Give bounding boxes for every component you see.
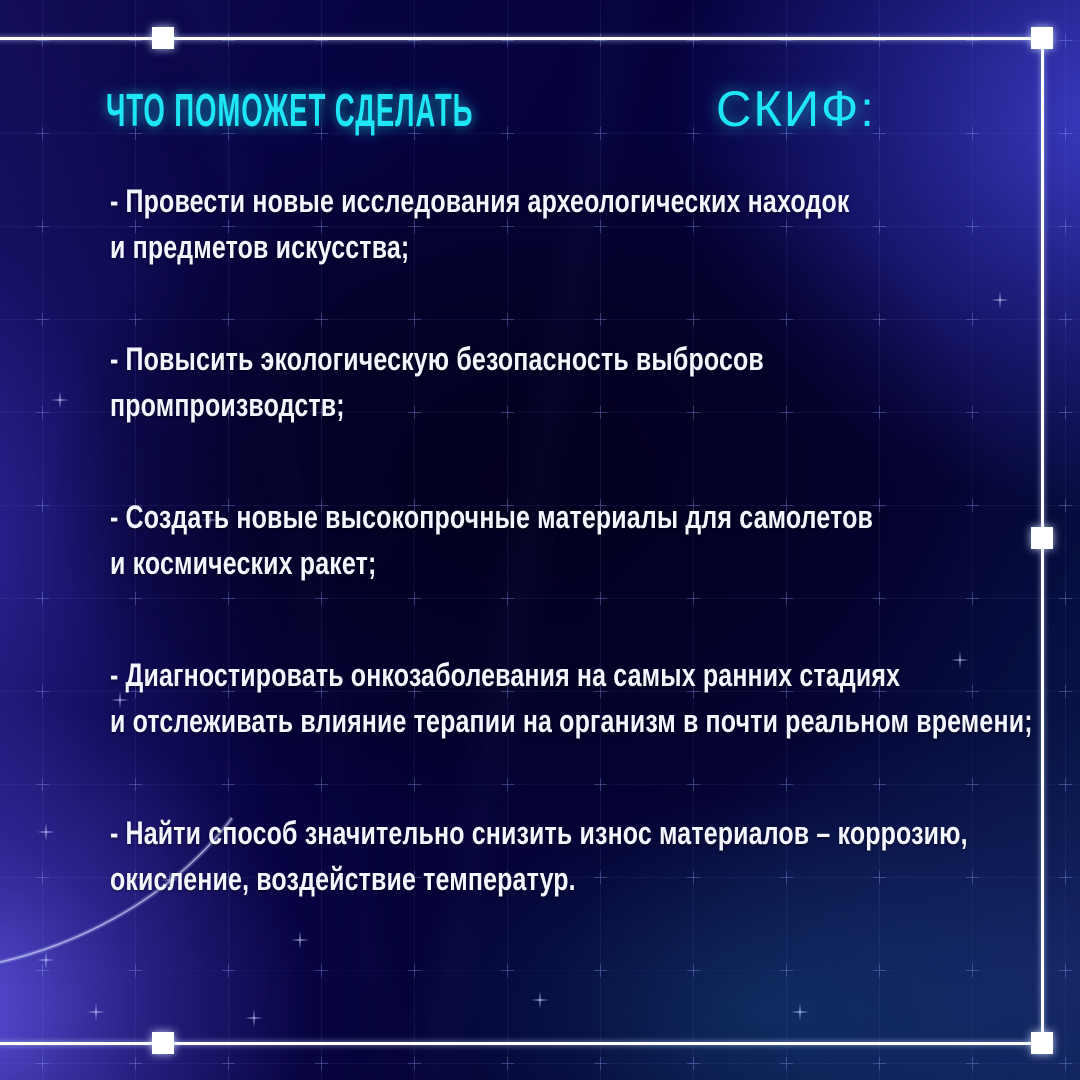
slide-canvas: ЧТО ПОМОЖЕТ СДЕЛАТЬ СКИФ: - Провести нов…	[0, 0, 1080, 1080]
bullet-list: - Провести новые исследования археологич…	[110, 178, 1060, 902]
bullet-line: - Повысить экологическую безопасность вы…	[110, 336, 851, 382]
bullet-oncology: - Диагностировать онкозаболевания на сам…	[110, 652, 1060, 744]
bullet-line: - Создать новые высокопрочные материалы …	[110, 494, 851, 540]
bullet-archaeology: - Провести новые исследования археологич…	[110, 178, 1060, 270]
slide-content: ЧТО ПОМОЖЕТ СДЕЛАТЬ СКИФ: - Провести нов…	[0, 0, 1080, 1080]
bullet-wear: - Найти способ значительно снизить износ…	[110, 810, 1060, 902]
bullet-line: окисление, воздействие температур.	[110, 856, 851, 902]
bullet-line: и предметов искусства;	[110, 224, 851, 270]
bullet-line: и отслеживать влияние терапии на организ…	[110, 698, 851, 744]
page-title: ЧТО ПОМОЖЕТ СДЕЛАТЬ СКИФ:	[106, 80, 879, 138]
bullet-line: - Диагностировать онкозаболевания на сам…	[110, 652, 851, 698]
bullet-line: промпроизводств;	[110, 382, 851, 428]
bullet-line: и космических ракет;	[110, 540, 851, 586]
bullet-line: - Найти способ значительно снизить износ…	[110, 810, 851, 856]
bullet-ecology: - Повысить экологическую безопасность вы…	[110, 336, 1060, 428]
bullet-materials: - Создать новые высокопрочные материалы …	[110, 494, 1060, 586]
bullet-line: - Провести новые исследования археологич…	[110, 178, 851, 224]
page-title-lead: ЧТО ПОМОЖЕТ СДЕЛАТЬ	[106, 83, 473, 137]
page-title-highlight: СКИФ:	[716, 80, 876, 138]
